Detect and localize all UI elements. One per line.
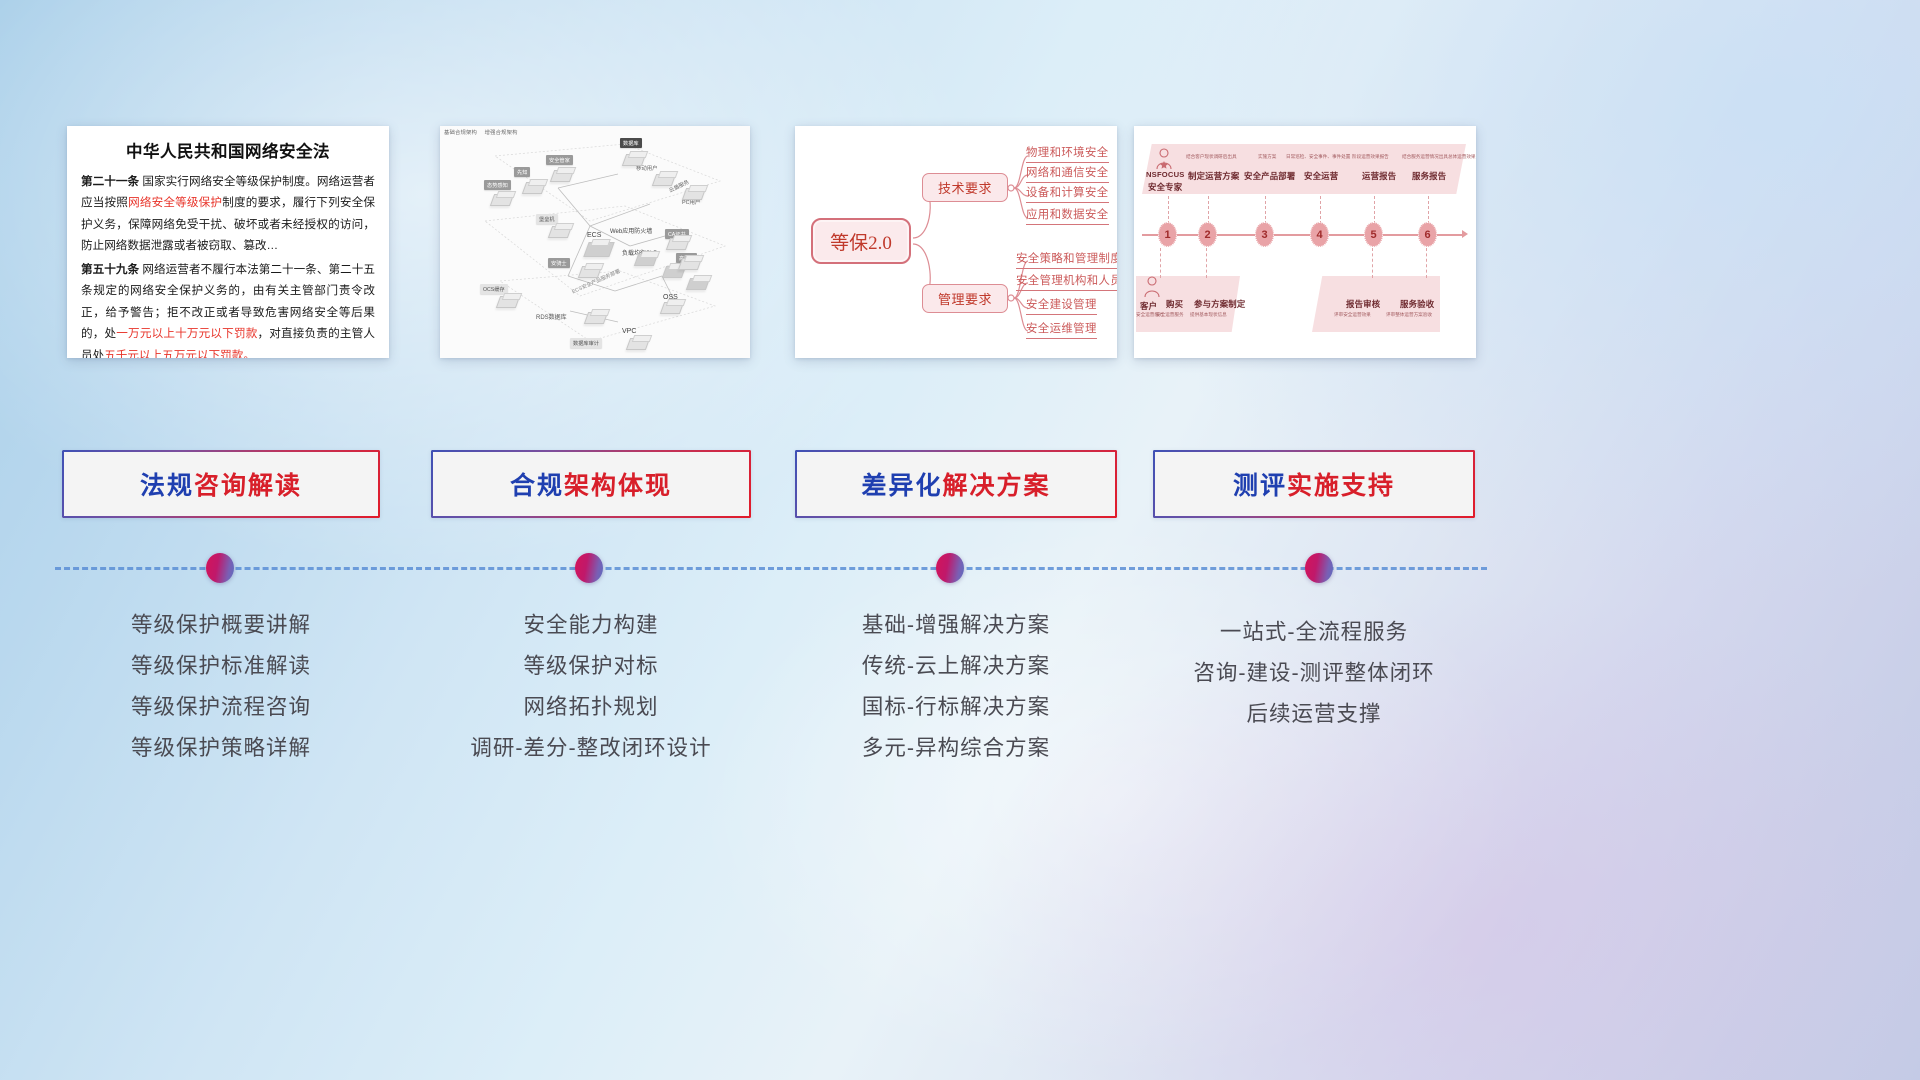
section-title-box-1[interactable]: 法规咨询解读 [62, 450, 380, 518]
article-59-highlight-2: 五千元以上五万元以下罚款。 [104, 349, 255, 359]
section-title-2-red: 架构体现 [564, 472, 672, 500]
section-title-box-2[interactable]: 合规架构体现 [431, 450, 751, 518]
expert-brand-label: NSFOCUS [1146, 170, 1185, 179]
topology-label-vpc: VPC [622, 328, 636, 335]
article-59-highlight-1: 一万元以上十万元以下罚款 [116, 327, 257, 340]
timeline-node-1[interactable] [206, 553, 234, 583]
list-item: 等级保护流程咨询 [62, 687, 380, 728]
card-service-timeline: NSFOCUS 安全专家 结合客户现状调研后出具 制定运营方案 实施方案 安全产… [1134, 126, 1476, 358]
list-item: 多元-异构综合方案 [795, 728, 1117, 769]
list-item: 等级保护标准解读 [62, 646, 380, 687]
service-timeline-graphic: NSFOCUS 安全专家 结合客户现状调研后出具 制定运营方案 实施方案 安全产… [1134, 126, 1476, 358]
mindmap-branch-management: 管理要求 [922, 284, 1008, 313]
timeline-step-title: 服务报告 [1412, 170, 1446, 182]
mindmap-leaf: 安全运维管理 [1026, 320, 1097, 339]
timeline-step-number: 2 [1198, 222, 1217, 247]
timeline-step-number: 4 [1310, 222, 1329, 247]
list-item: 后续运营支撑 [1153, 694, 1475, 735]
topology-label-anqishi: 安骑士 [548, 258, 570, 268]
timeline-tick [1208, 196, 1209, 224]
timeline-step-title: 制定运营方案 [1188, 170, 1239, 182]
timeline-bottom-title: 参与方案制定 [1194, 298, 1245, 310]
timeline-step-sub: 阶段运营效果报告 [1352, 154, 1389, 160]
section-title-4-blue: 测评 [1233, 472, 1287, 500]
article-21-highlight: 网络安全等级保护 [128, 196, 222, 209]
section-title-box-4[interactable]: 测评实施支持 [1153, 450, 1475, 518]
list-item: 传统-云上解决方案 [795, 646, 1117, 687]
timeline-step-sub: 结合服务运营情况出具总体运营效果 [1402, 154, 1476, 160]
section-title-3-red: 解决方案 [943, 472, 1051, 500]
law-article-21: 第二十一条 国家实行网络安全等级保护制度。网络运营者应当按照网络安全等级保护制度… [81, 171, 375, 257]
law-article-59: 第五十九条 网络运营者不履行本法第二十一条、第二十五条规定的网络安全保护义务的，… [81, 259, 375, 358]
section-title-3-blue: 差异化 [861, 472, 942, 500]
article-21-label: 第二十一条 [81, 175, 139, 188]
article-59-label: 第五十九条 [81, 263, 139, 276]
timeline-tick [1206, 248, 1207, 278]
timeline-step-title: 运营报告 [1362, 170, 1396, 182]
timeline-tick [1372, 248, 1373, 278]
topology-node-icon [583, 242, 614, 257]
topology-label-database-audit: 数据库审计 [570, 338, 602, 348]
list-item: 等级保护策略详解 [62, 728, 380, 769]
section-title-2-blue: 合规 [510, 472, 564, 500]
section-title-1-blue: 法规 [140, 472, 194, 500]
mindmap-leaf: 设备和计算安全 [1026, 184, 1109, 203]
list-item: 安全能力构建 [431, 605, 751, 646]
list-item: 等级保护概要讲解 [62, 605, 380, 646]
law-body: 中华人民共和国网络安全法 第二十一条 国家实行网络安全等级保护制度。网络运营者应… [67, 126, 389, 358]
timeline-tick [1428, 196, 1429, 224]
timeline-step-sub: 结合客户现状调研后出具 [1186, 154, 1237, 160]
section-title-1-red: 咨询解读 [194, 472, 302, 500]
mindmap-core-node: 等保2.0 [811, 218, 911, 264]
timeline-step-number: 3 [1255, 222, 1274, 247]
timeline-tick [1265, 196, 1266, 224]
list-item: 基础-增强解决方案 [795, 605, 1117, 646]
timeline-arrow-icon [1462, 230, 1468, 238]
timeline-bottom-title: 报告审核 [1346, 298, 1380, 310]
topology-label-xianzhi: 先知 [514, 167, 530, 177]
topology-diagram: 基础合规架构 增强合规架构 [440, 126, 750, 358]
section-title-2: 合规架构体现 [510, 466, 672, 502]
section-title-box-3[interactable]: 差异化解决方案 [795, 450, 1117, 518]
topology-label-waf: Web应用防火墙 [610, 226, 652, 235]
list-item: 等级保护对标 [431, 646, 751, 687]
mindmap-branch-technical: 技术要求 [922, 173, 1008, 202]
mindmap-leaf: 网络和通信安全 [1026, 164, 1109, 183]
topology-label-rds-database: RDS数据库 [536, 312, 567, 321]
timeline-tick [1160, 248, 1161, 278]
section-title-4: 测评实施支持 [1233, 466, 1395, 502]
timeline-tick [1320, 196, 1321, 224]
topology-label-database: 数据库 [620, 138, 642, 148]
mindmap-leaf: 安全管理机构和人员 [1016, 272, 1117, 291]
timeline-bottom-sub: 提供基本现状信息 [1190, 312, 1227, 318]
timeline-step-title: 安全运营 [1304, 170, 1338, 182]
section-title-1: 法规咨询解读 [140, 466, 302, 502]
timeline-dashed-line [55, 567, 1487, 570]
list-item: 国标-行标解决方案 [795, 687, 1117, 728]
mindmap-leaf: 安全建设管理 [1026, 296, 1097, 315]
section-items-3: 基础-增强解决方案 传统-云上解决方案 国标-行标解决方案 多元-异构综合方案 [795, 605, 1117, 769]
timeline-step-number: 1 [1158, 222, 1177, 247]
list-item: 一站式-全流程服务 [1153, 612, 1475, 653]
mindmap-diagram: 等保2.0 技术要求 管理要求 物理和环境安全 网络和通信安全 设备和计算安全 … [795, 126, 1117, 358]
section-items-4: 一站式-全流程服务 咨询-建设-测评整体闭环 后续运营支撑 [1153, 612, 1475, 735]
timeline-node-3[interactable] [936, 553, 964, 583]
timeline-tick [1374, 196, 1375, 224]
timeline-axis [1142, 234, 1464, 236]
list-item: 网络拓扑规划 [431, 687, 751, 728]
section-items-2: 安全能力构建 等级保护对标 网络拓扑规划 调研-差分-整改闭环设计 [431, 605, 751, 769]
timeline-node-4[interactable] [1305, 553, 1333, 583]
section-items-1: 等级保护概要讲解 等级保护标准解读 等级保护流程咨询 等级保护策略详解 [62, 605, 380, 769]
timeline-top-band [1142, 144, 1466, 194]
topology-label-ecs: ECS [587, 232, 601, 239]
section-title-4-red: 实施支持 [1287, 472, 1395, 500]
topology-label-security-butler: 安全管家 [546, 155, 573, 165]
poster-stage: 中华人民共和国网络安全法 第二十一条 国家实行网络安全等级保护制度。网络运营者应… [0, 0, 1920, 1080]
timeline-node-2[interactable] [575, 553, 603, 583]
timeline-step-number: 5 [1364, 222, 1383, 247]
timeline-tick [1168, 196, 1169, 224]
mindmap-leaf: 应用和数据安全 [1026, 206, 1109, 225]
customer-person-icon [1142, 276, 1162, 298]
list-item: 调研-差分-整改闭环设计 [431, 728, 751, 769]
timeline-bottom-sub: 评审整体运营方案验收 [1386, 312, 1432, 318]
timeline-step-sub: 实施方案 [1258, 154, 1276, 160]
mindmap-leaf: 物理和环境安全 [1026, 144, 1109, 163]
card-mindmap: 等保2.0 技术要求 管理要求 物理和环境安全 网络和通信安全 设备和计算安全 … [795, 126, 1117, 358]
card-network-topology: 基础合规架构 增强合规架构 [440, 126, 750, 358]
list-item: 咨询-建设-测评整体闭环 [1153, 653, 1475, 694]
timeline-step-number: 6 [1418, 222, 1437, 247]
timeline-bottom-sub: 评审安全运营效果 [1334, 312, 1371, 318]
card-law-text: 中华人民共和国网络安全法 第二十一条 国家实行网络安全等级保护制度。网络运营者应… [67, 126, 389, 358]
timeline-bottom-title: 购买 [1166, 298, 1183, 310]
expert-person-icon [1154, 148, 1174, 170]
timeline-bottom-sub: 安全运营服务 [1156, 312, 1184, 318]
timeline-tick [1426, 248, 1427, 278]
timeline-step-sub: 日常巡检、安全事件、事件处置 [1286, 154, 1350, 160]
law-title: 中华人民共和国网络安全法 [81, 138, 375, 162]
expert-role-label: 安全专家 [1148, 181, 1182, 193]
customer-label: 客户 [1140, 300, 1157, 312]
mindmap-leaf: 安全策略和管理制度 [1016, 250, 1117, 269]
topology-label-situational-awareness: 态势感知 [484, 180, 511, 190]
timeline-bottom-title: 服务验收 [1400, 298, 1434, 310]
topology-label-bastion-host: 堡垒机 [536, 214, 558, 224]
section-title-3: 差异化解决方案 [861, 466, 1050, 502]
timeline-step-title: 安全产品部署 [1244, 170, 1295, 182]
